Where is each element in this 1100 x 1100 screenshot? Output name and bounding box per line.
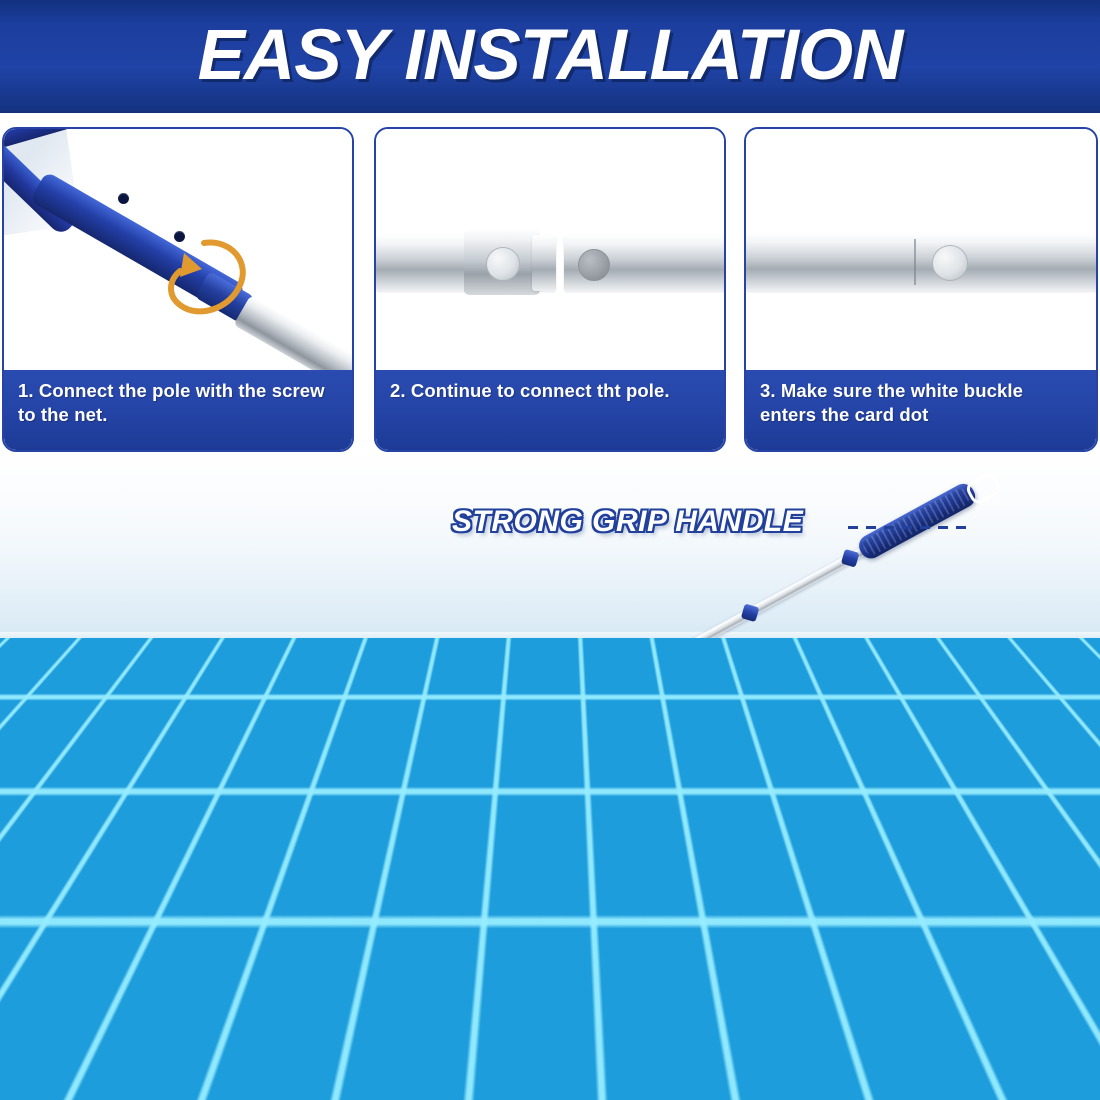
leader-line-grip: [848, 526, 968, 529]
rotate-arrow-icon: [154, 219, 264, 339]
white-buckle-icon: [932, 245, 968, 281]
page-title: EASY INSTALLATION: [0, 14, 1100, 95]
net-mesh-fabric: [33, 832, 251, 1018]
product-infographic: EASY INSTALLATION: [0, 0, 1100, 1100]
step-2-image: [376, 129, 724, 381]
installation-steps: 1. Connect the pole with the screw to th…: [0, 119, 1100, 456]
screw-hole-icon: [118, 193, 129, 204]
leader-line-knots: [508, 682, 723, 686]
header-banner: EASY INSTALLATION: [0, 0, 1100, 113]
card-dot-icon: [578, 249, 610, 281]
step-panel-2: 2. Continue to connect tht pole.: [374, 127, 726, 452]
pole-segment-left-tip: [532, 235, 556, 291]
step-panel-1: 1. Connect the pole with the screw to th…: [2, 127, 354, 452]
callout-strong-grip-handle: STRONG GRIP HANDLE: [452, 505, 803, 539]
pole-seam: [914, 239, 916, 285]
leader-line-mesh: [252, 948, 510, 952]
hero-product-photo: [0, 456, 1100, 1100]
step-panel-3: 3. Make sure the white buckle enters the…: [744, 127, 1098, 452]
callout-fine-mesh-material: FINE MESH MATERIAL: [528, 922, 872, 958]
pool-wall-edge: [0, 632, 1100, 642]
step-1-image: [4, 129, 352, 381]
pole-segment-left: [376, 235, 472, 291]
step-2-caption: 2. Continue to connect tht pole.: [376, 370, 724, 450]
skimmer-net-head: [3, 794, 298, 1055]
assembled-pole: [746, 233, 1096, 291]
step-1-caption: 1. Connect the pole with the screw to th…: [4, 370, 352, 450]
water-surface-haze: [0, 456, 1100, 686]
buckle-dot-icon: [486, 247, 520, 281]
callout-5-knots-pole: 5 KNOTS POLE: [238, 660, 464, 694]
step-3-caption: 3. Make sure the white buckle enters the…: [746, 370, 1096, 450]
step-3-image: [746, 129, 1096, 381]
